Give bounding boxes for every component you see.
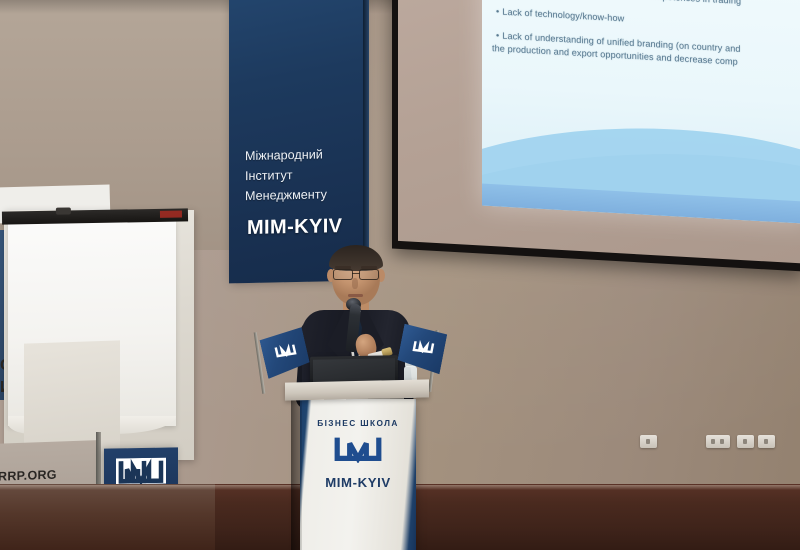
screen-surface: in the world market with •Need of one un… (398, 0, 800, 263)
podium-brand: MIM-KYIV (300, 475, 416, 490)
backdrop-line-3: Менеджменту (245, 185, 357, 207)
podium-top-surface (285, 379, 429, 400)
slide-bullet-4: •Lack of technology/know-how (496, 6, 800, 35)
podium-front-panel: БІЗНЕС ШКОЛА MIM-KYIV (300, 399, 416, 550)
slide-bullet-3-text: Low level of appropriate skills and comp… (502, 0, 741, 6)
mim-logo-icon (116, 458, 166, 485)
backdrop-banner-institute-name: Міжнародний Інститут Менеджменту (245, 145, 357, 207)
floor-left-section (0, 484, 215, 550)
mim-logo-icon (332, 433, 384, 463)
left-print-website: RRP.ORG (0, 468, 57, 484)
wall-socket-4 (758, 435, 775, 448)
wall-socket-3 (737, 435, 754, 448)
flipchart-clamp-knob (56, 207, 71, 214)
slide-bullet-5: •Lack of understanding of unified brandi… (496, 30, 800, 72)
presentation-slide: in the world market with •Need of one un… (482, 0, 800, 224)
wall-socket-1 (640, 435, 657, 448)
bullet-glyph-icon: • (496, 30, 499, 40)
backdrop-banner-edge (362, 0, 369, 282)
bullet-glyph-icon: • (496, 6, 499, 16)
backdrop-banner: Міжнародний Інститут Менеджменту MIM-KYI… (229, 0, 363, 283)
presenter-nose (352, 278, 358, 289)
slide-bullet-4-text: Lack of technology/know-how (502, 7, 624, 24)
backdrop-line-2: Інститут (245, 165, 357, 187)
conference-room-photo: in the world market with •Need of one un… (0, 0, 800, 550)
backdrop-line-1: Міжнародний (245, 145, 357, 167)
projection-screen: in the world market with •Need of one un… (392, 0, 800, 272)
glasses-lens-left (333, 269, 353, 280)
glasses-lens-right (359, 269, 379, 280)
presenter-mouth (348, 294, 363, 297)
glasses-icon (333, 269, 379, 278)
mim-flag-right (396, 324, 449, 375)
podium-left-shadow (291, 397, 302, 550)
mim-logo-icon (411, 339, 435, 354)
slide-text-body: in the world market with •Need of one un… (496, 0, 800, 84)
flipchart-clamp-red-label (160, 210, 182, 217)
podium-subtitle: БІЗНЕС ШКОЛА (300, 418, 416, 428)
backdrop-banner-brand: MIM-KYIV (247, 215, 342, 240)
wall-socket-2 (706, 435, 730, 448)
speaker-podium: БІЗНЕС ШКОЛА MIM-KYIV (291, 385, 423, 550)
